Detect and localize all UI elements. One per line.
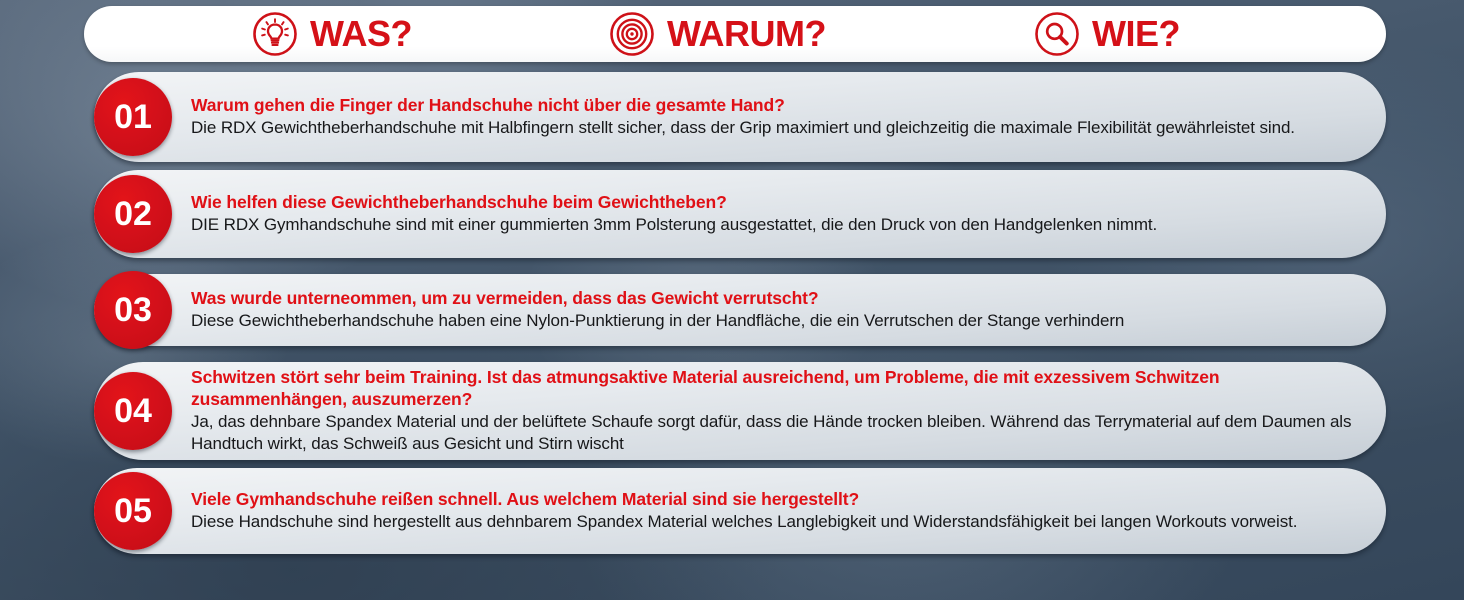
- header-item-was: WAS?: [252, 11, 412, 57]
- faq-number-badge: 02: [94, 175, 172, 253]
- faq-answer: Ja, das dehnbare Spandex Material und de…: [191, 411, 1360, 455]
- faq-question: Wie helfen diese Gewichtheberhandschuhe …: [191, 192, 1157, 214]
- faq-text-block: Was wurde unterneommen, um zu vermeiden,…: [191, 288, 1150, 332]
- faq-number-badge: 04: [94, 372, 172, 450]
- header-bar: WAS? WARUM? WIE?: [84, 6, 1386, 62]
- faq-number-badge: 05: [94, 472, 172, 550]
- header-label: WARUM?: [667, 16, 826, 52]
- faq-text-block: Schwitzen stört sehr beim Training. Ist …: [191, 367, 1386, 455]
- header-label: WAS?: [310, 16, 412, 52]
- faq-text-block: Viele Gymhandschuhe reißen schnell. Aus …: [191, 489, 1323, 533]
- faq-row[interactable]: 04 Schwitzen stört sehr beim Training. I…: [94, 362, 1386, 460]
- faq-answer: Diese Gewichtheberhandschuhe haben eine …: [191, 310, 1124, 332]
- faq-question: Warum gehen die Finger der Handschuhe ni…: [191, 95, 1295, 117]
- faq-row[interactable]: 02 Wie helfen diese Gewichtheberhandschu…: [94, 170, 1386, 258]
- faq-question: Schwitzen stört sehr beim Training. Ist …: [191, 367, 1360, 410]
- faq-row[interactable]: 05 Viele Gymhandschuhe reißen schnell. A…: [94, 468, 1386, 554]
- faq-text-block: Wie helfen diese Gewichtheberhandschuhe …: [191, 192, 1183, 236]
- faq-answer: DIE RDX Gymhandschuhe sind mit einer gum…: [191, 214, 1157, 236]
- header-item-wie: WIE?: [1034, 11, 1180, 57]
- faq-answer: Diese Handschuhe sind hergestellt aus de…: [191, 511, 1297, 533]
- faq-question: Viele Gymhandschuhe reißen schnell. Aus …: [191, 489, 1297, 511]
- faq-number-badge: 01: [94, 78, 172, 156]
- magnifier-icon: [1034, 11, 1080, 57]
- faq-number-badge: 03: [94, 271, 172, 349]
- faq-answer: Die RDX Gewichtheberhandschuhe mit Halbf…: [191, 117, 1295, 139]
- target-icon: [609, 11, 655, 57]
- header-label: WIE?: [1092, 16, 1180, 52]
- lightbulb-icon: [252, 11, 298, 57]
- faq-row[interactable]: 01 Warum gehen die Finger der Handschuhe…: [94, 72, 1386, 162]
- faq-text-block: Warum gehen die Finger der Handschuhe ni…: [191, 95, 1321, 139]
- faq-infographic: WAS? WARUM? WIE? 01 Warum gehen: [0, 0, 1464, 600]
- header-item-warum: WARUM?: [609, 11, 826, 57]
- faq-row[interactable]: 03 Was wurde unterneommen, um zu vermeid…: [94, 274, 1386, 346]
- faq-question: Was wurde unterneommen, um zu vermeiden,…: [191, 288, 1124, 310]
